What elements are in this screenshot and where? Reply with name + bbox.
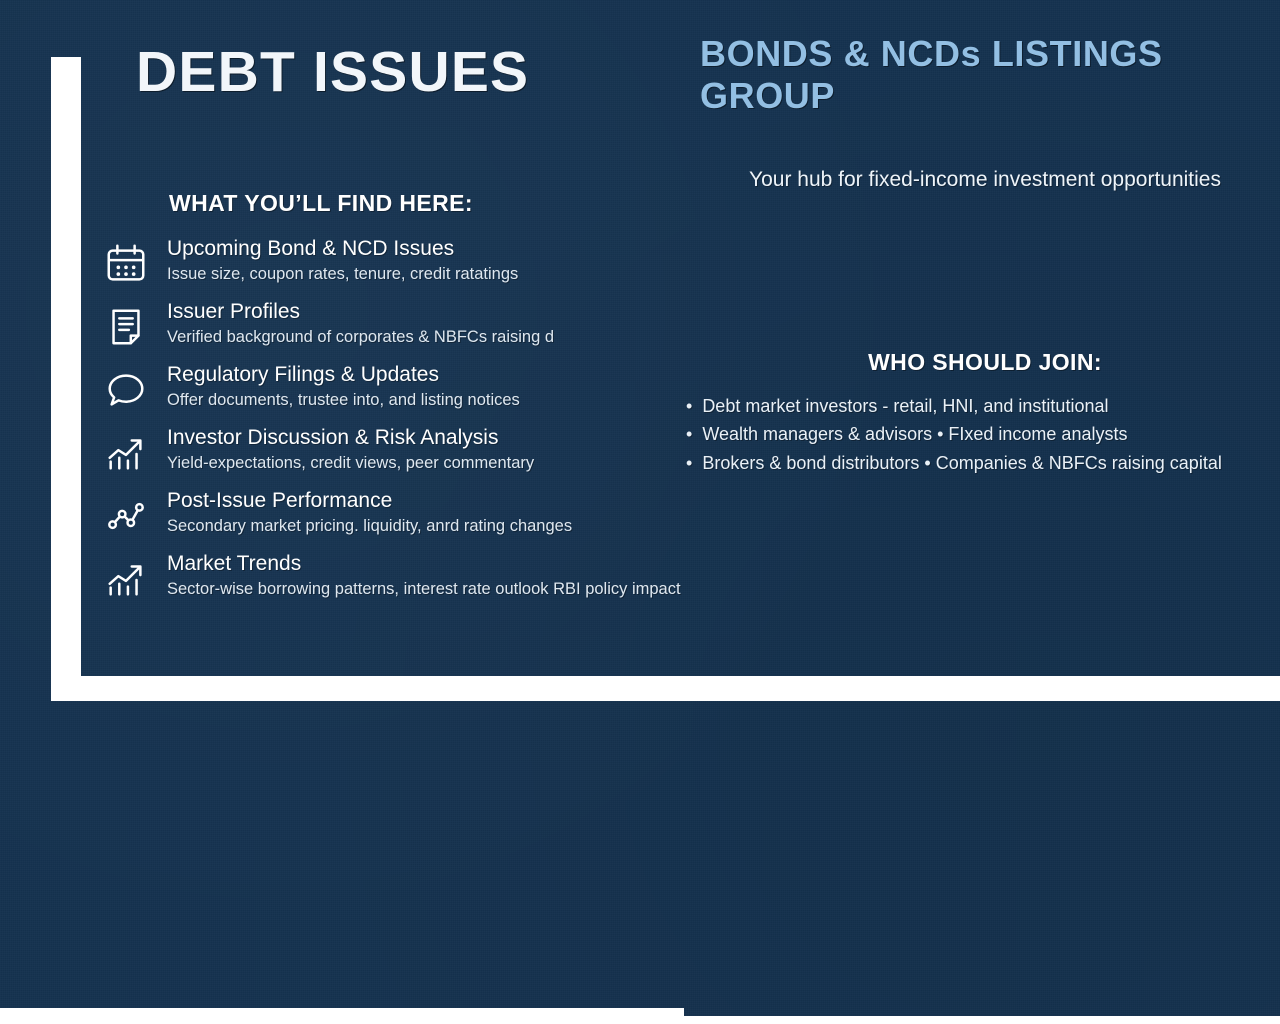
- list-item: Upcoming Bond & NCD Issues Issue size, c…: [103, 237, 683, 287]
- bullet-icon: •: [686, 420, 692, 448]
- list-item: Post-Issue Performance Secondary market …: [103, 489, 683, 539]
- list-item-label: Brokers & bond distributors • Companies …: [702, 449, 1272, 477]
- document-icon: [103, 304, 149, 350]
- bullet-icon: •: [686, 449, 692, 477]
- list-item: Issuer Profiles Verified background of c…: [103, 300, 683, 350]
- list-item: • Debt market investors - retail, HNI, a…: [686, 392, 1272, 420]
- bullet-icon: •: [686, 392, 692, 420]
- feature-description: Sector-wise borrowing patterns, interest…: [167, 578, 681, 600]
- feature-description: Issue size, coupon rates, tenure, credit…: [167, 263, 518, 285]
- line-chart-nodes-icon: [103, 493, 149, 539]
- list-item: • Brokers & bond distributors • Companie…: [686, 449, 1272, 477]
- group-subtitle: Your hub for fixed-income investment opp…: [690, 165, 1280, 195]
- left-subheading: WHAT YOU’LL FIND HERE:: [169, 190, 473, 217]
- group-title: BONDS & NCDs LISTINGS GROUP: [700, 33, 1280, 118]
- bar-chart-growth-icon: [103, 430, 149, 476]
- frame-vertical-bar: [51, 57, 81, 679]
- calendar-icon: [103, 241, 149, 287]
- bar-chart-growth-icon: [103, 556, 149, 602]
- feature-title: Post-Issue Performance: [167, 489, 572, 513]
- feature-list: Upcoming Bond & NCD Issues Issue size, c…: [103, 237, 683, 615]
- feature-title: Issuer Profiles: [167, 300, 554, 324]
- frame-horizontal-bar: [51, 676, 1280, 701]
- feature-description: Yield-expectations, credit views, peer c…: [167, 452, 534, 474]
- list-item-label: Wealth managers & advisors • FIxed incom…: [702, 420, 1272, 448]
- feature-title: Investor Discussion & Risk Analysis: [167, 426, 534, 450]
- feature-title: Market Trends: [167, 552, 681, 576]
- list-item: Investor Discussion & Risk Analysis Yiel…: [103, 426, 683, 476]
- feature-title: Regulatory Filings & Updates: [167, 363, 520, 387]
- feature-description: Secondary market pricing. liquidity, anr…: [167, 515, 572, 537]
- list-item: Regulatory Filings & Updates Offer docum…: [103, 363, 683, 413]
- feature-description: Verified background of corporates & NBFC…: [167, 326, 554, 348]
- speech-bubble-icon: [103, 367, 149, 413]
- frame-bottom-strip-left: [0, 1008, 684, 1024]
- frame-bottom-strip-right: [684, 1016, 1280, 1024]
- feature-title: Upcoming Bond & NCD Issues: [167, 237, 518, 261]
- page-title: DEBT ISSUES: [136, 44, 529, 101]
- feature-description: Offer documents, trustee into, and listi…: [167, 389, 520, 411]
- who-should-join-heading: WHO SHOULD JOIN:: [690, 349, 1280, 376]
- list-item: Market Trends Sector-wise borrowing patt…: [103, 552, 683, 602]
- list-item-label: Debt market investors - retail, HNI, and…: [702, 392, 1272, 420]
- who-should-join-list: • Debt market investors - retail, HNI, a…: [686, 392, 1272, 477]
- list-item: • Wealth managers & advisors • FIxed inc…: [686, 420, 1272, 448]
